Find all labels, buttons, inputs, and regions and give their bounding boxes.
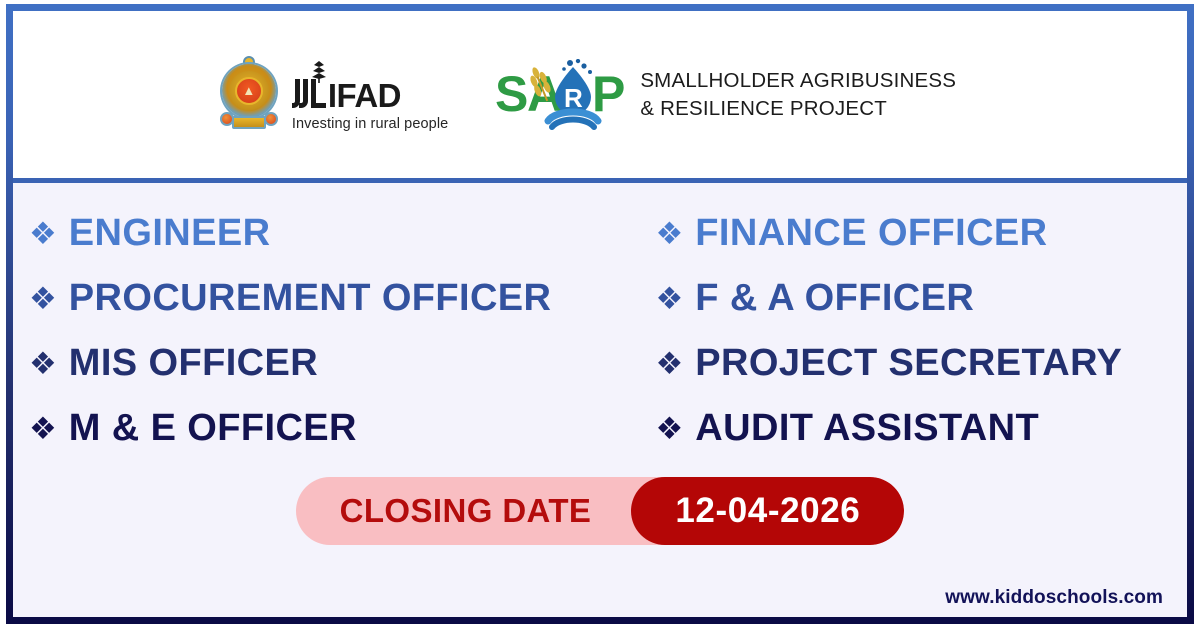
diamond-bullet-icon: ❖ (656, 218, 684, 249)
project-title-line2: & RESILIENCE PROJECT (640, 95, 956, 122)
position-item: ❖ F & A OFFICER (656, 266, 1188, 329)
position-label: MIS OFFICER (69, 344, 318, 382)
svg-text:R: R (564, 83, 583, 113)
sri-lanka-emblem-icon: ▲ (220, 56, 278, 134)
diamond-bullet-icon: ❖ (656, 348, 684, 379)
positions-list: ❖ ENGINEER ❖ PROCUREMENT OFFICER ❖ MIS O… (13, 183, 1187, 459)
ifad-name-text: IFAD (328, 79, 401, 112)
svg-text:S: S (496, 66, 528, 122)
diamond-bullet-icon: ❖ (29, 413, 57, 444)
emblem-base (232, 116, 266, 129)
diamond-bullet-icon: ❖ (656, 413, 684, 444)
position-label: PROCUREMENT OFFICER (69, 279, 552, 317)
svg-text:P: P (592, 66, 625, 122)
position-label: FINANCE OFFICER (695, 214, 1047, 252)
position-label: F & A OFFICER (695, 279, 974, 317)
emblem-lion-figure: ▲ (240, 83, 258, 99)
position-item: ❖ ENGINEER (29, 201, 642, 264)
positions-column-left: ❖ ENGINEER ❖ PROCUREMENT OFFICER ❖ MIS O… (13, 201, 642, 459)
poster-gradient-frame: ▲ (6, 4, 1194, 624)
diamond-bullet-icon: ❖ (29, 218, 57, 249)
sarp-logo-icon: S A (496, 59, 626, 131)
ifad-jl-mark (292, 79, 328, 112)
poster-body: ❖ ENGINEER ❖ PROCUREMENT OFFICER ❖ MIS O… (13, 183, 1187, 617)
poster-inner: ▲ (13, 11, 1187, 617)
position-item: ❖ M & E OFFICER (29, 396, 642, 459)
logo-row: ▲ (220, 56, 956, 134)
website-url[interactable]: www.kiddoschools.com (945, 587, 1163, 609)
position-label: M & E OFFICER (69, 409, 357, 447)
closing-date-section: CLOSING DATE 12-04-2026 (13, 459, 1187, 587)
vacancy-poster: ▲ (0, 0, 1200, 628)
positions-column-right: ❖ FINANCE OFFICER ❖ F & A OFFICER ❖ PROJ… (642, 201, 1188, 459)
position-label: AUDIT ASSISTANT (695, 409, 1039, 447)
position-label: ENGINEER (69, 214, 271, 252)
position-item: ❖ PROCUREMENT OFFICER (29, 266, 642, 329)
position-item: ❖ FINANCE OFFICER (656, 201, 1188, 264)
diamond-bullet-icon: ❖ (29, 283, 57, 314)
position-label: PROJECT SECRETARY (695, 344, 1122, 382)
diamond-bullet-icon: ❖ (656, 283, 684, 314)
footer: www.kiddoschools.com (13, 587, 1187, 617)
project-title-line1: SMALLHOLDER AGRIBUSINESS (640, 67, 956, 94)
poster-header: ▲ (13, 11, 1187, 183)
position-item: ❖ PROJECT SECRETARY (656, 331, 1188, 394)
closing-date-value: 12-04-2026 (631, 477, 904, 545)
ifad-logo: IFAD Investing in rural people (292, 57, 448, 132)
closing-date-pill: CLOSING DATE 12-04-2026 (296, 477, 905, 545)
position-item: ❖ MIS OFFICER (29, 331, 642, 394)
position-item: ❖ AUDIT ASSISTANT (656, 396, 1188, 459)
diamond-bullet-icon: ❖ (29, 348, 57, 379)
ifad-wordmark: IFAD (292, 79, 448, 112)
project-title: SMALLHOLDER AGRIBUSINESS & RESILIENCE PR… (640, 67, 956, 121)
closing-date-label: CLOSING DATE (296, 477, 632, 545)
ifad-tagline: Investing in rural people (292, 116, 448, 132)
emblem-right-vessel (264, 112, 278, 126)
